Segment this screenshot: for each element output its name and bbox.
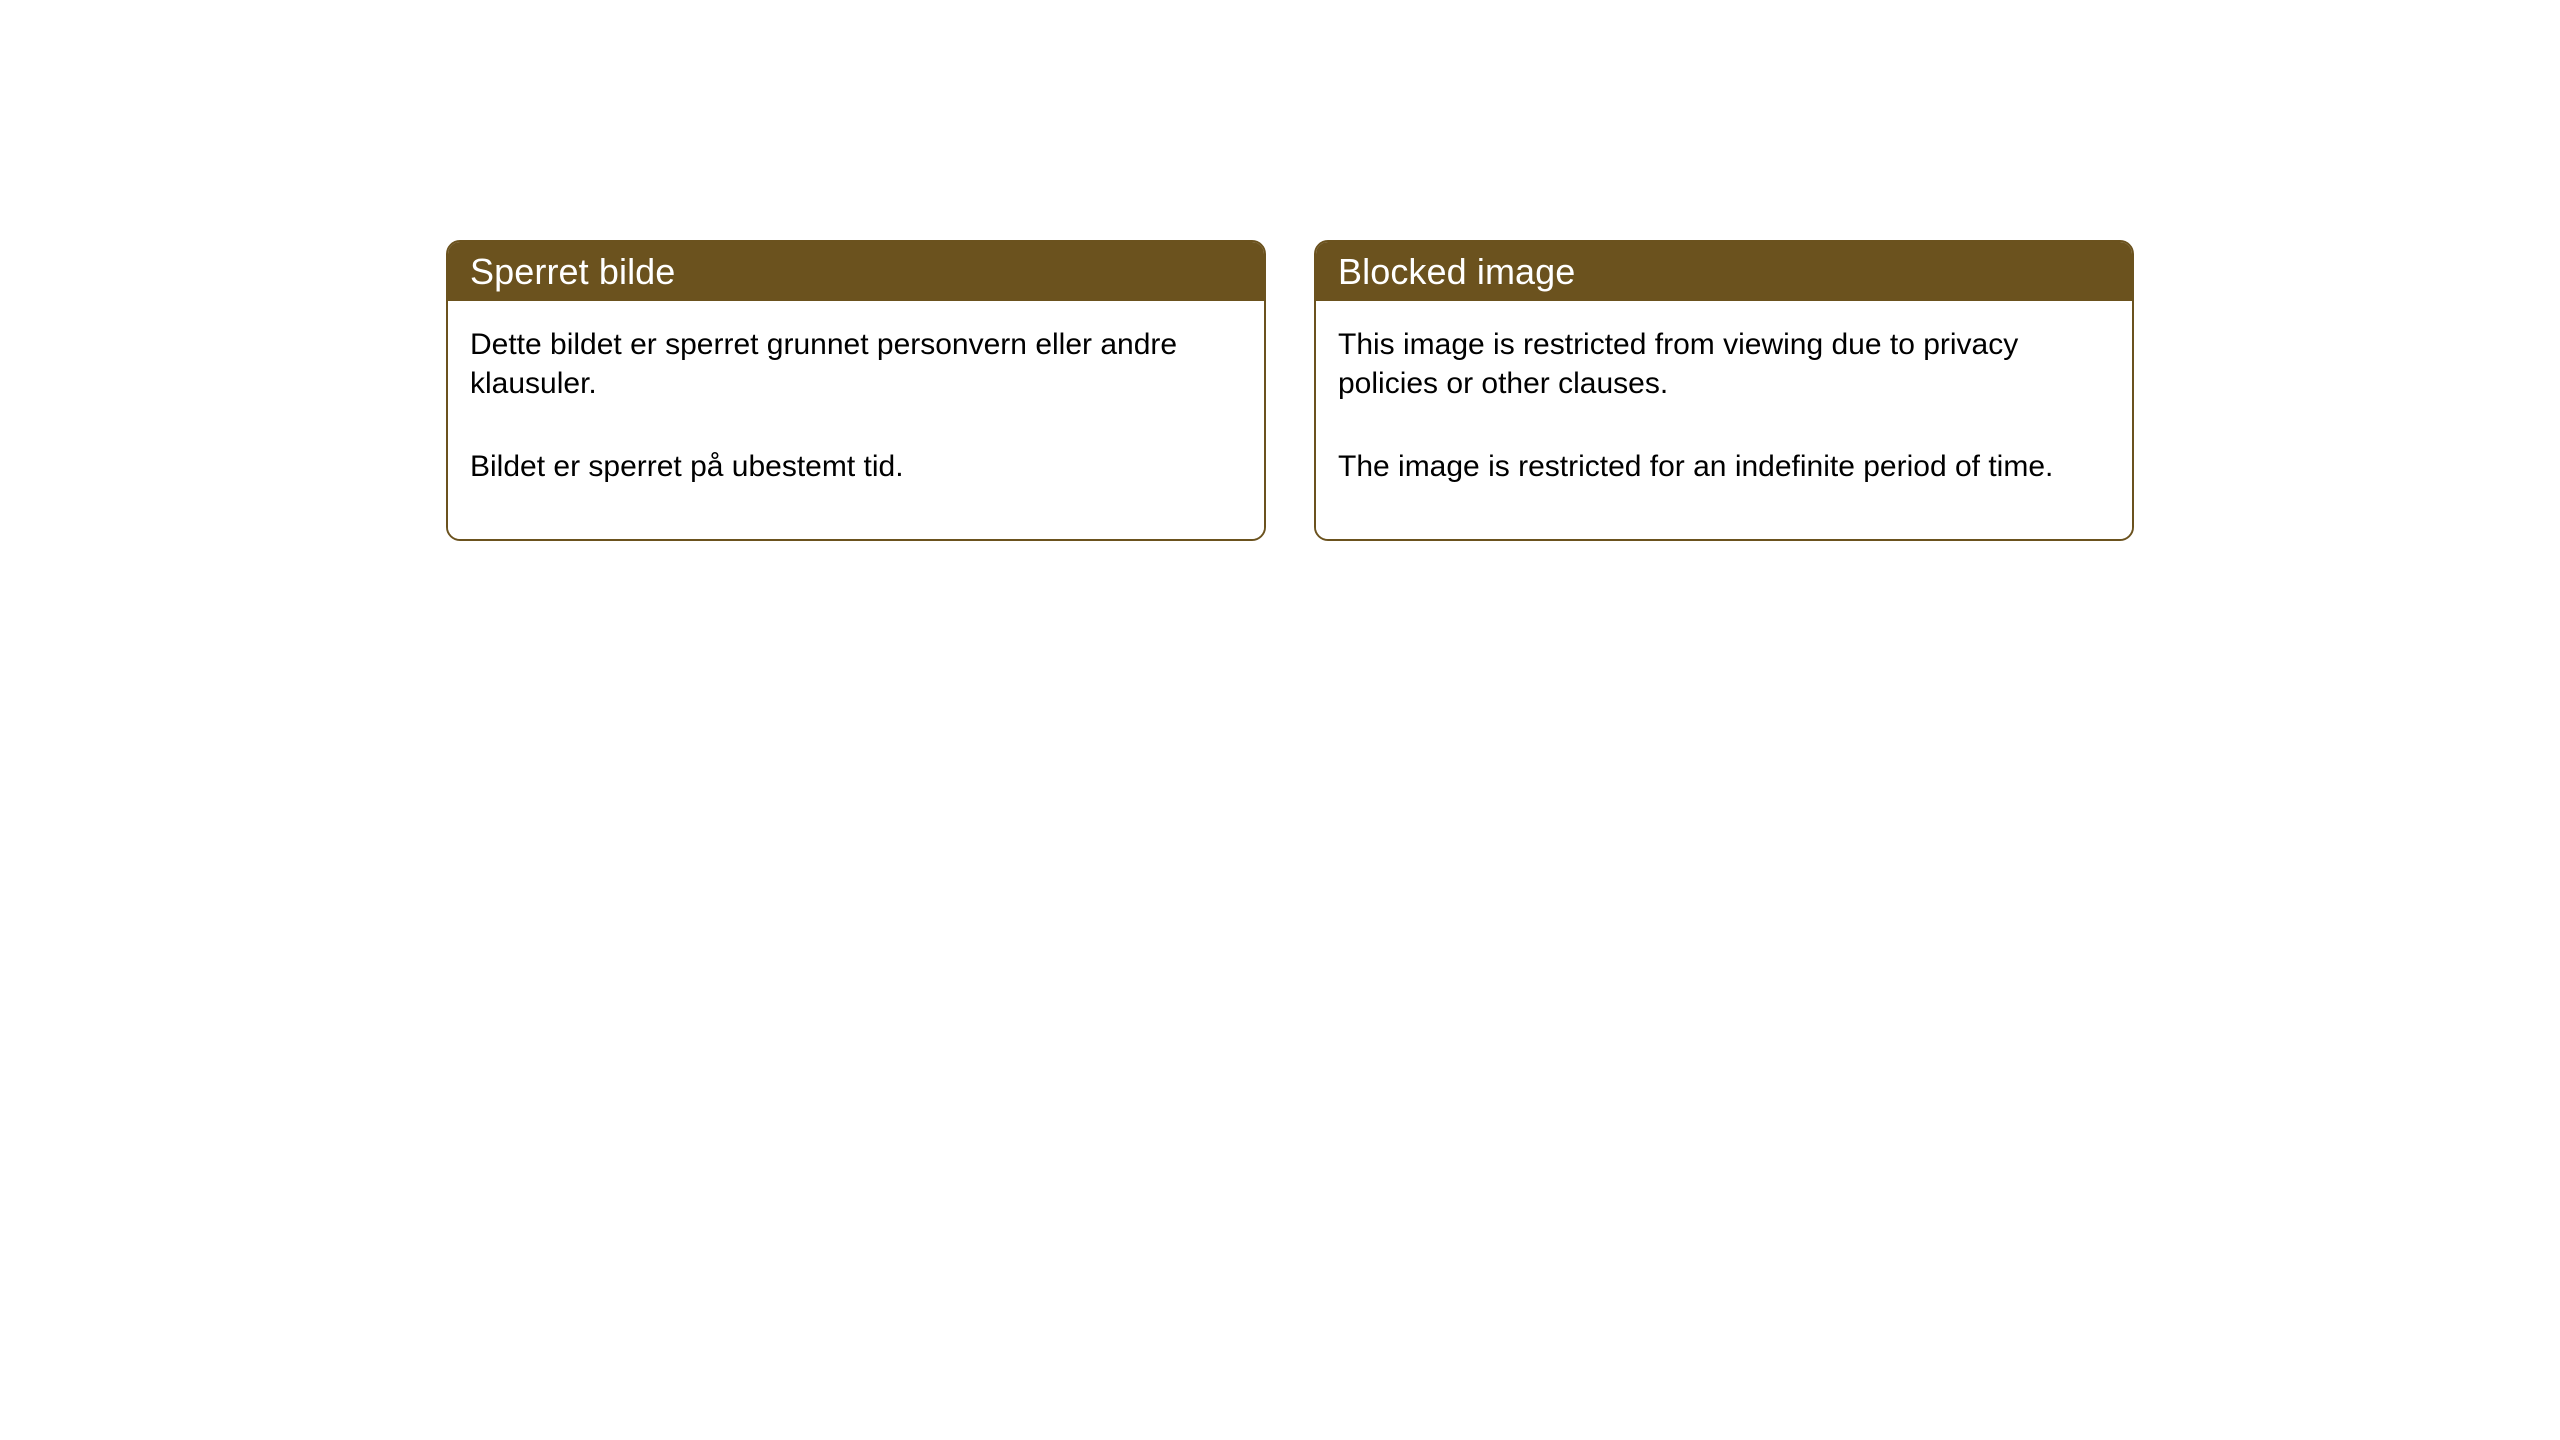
notice-title-norwegian: Sperret bilde bbox=[448, 242, 1264, 301]
notice-paragraph-privacy-norwegian: Dette bildet er sperret grunnet personve… bbox=[470, 325, 1242, 403]
blocked-image-notice-area: Sperret bilde Dette bildet er sperret gr… bbox=[446, 240, 2134, 541]
notice-title-english: Blocked image bbox=[1316, 242, 2132, 301]
notice-paragraph-privacy-english: This image is restricted from viewing du… bbox=[1338, 325, 2110, 403]
notice-paragraph-duration-english: The image is restricted for an indefinit… bbox=[1338, 447, 2110, 486]
paragraph-spacer bbox=[470, 403, 1242, 447]
notice-body-norwegian: Dette bildet er sperret grunnet personve… bbox=[448, 301, 1264, 539]
notice-body-english: This image is restricted from viewing du… bbox=[1316, 301, 2132, 539]
blocked-image-notice-english: Blocked image This image is restricted f… bbox=[1314, 240, 2134, 541]
paragraph-spacer bbox=[1338, 403, 2110, 447]
notice-paragraph-duration-norwegian: Bildet er sperret på ubestemt tid. bbox=[470, 447, 1242, 486]
blocked-image-notice-norwegian: Sperret bilde Dette bildet er sperret gr… bbox=[446, 240, 1266, 541]
